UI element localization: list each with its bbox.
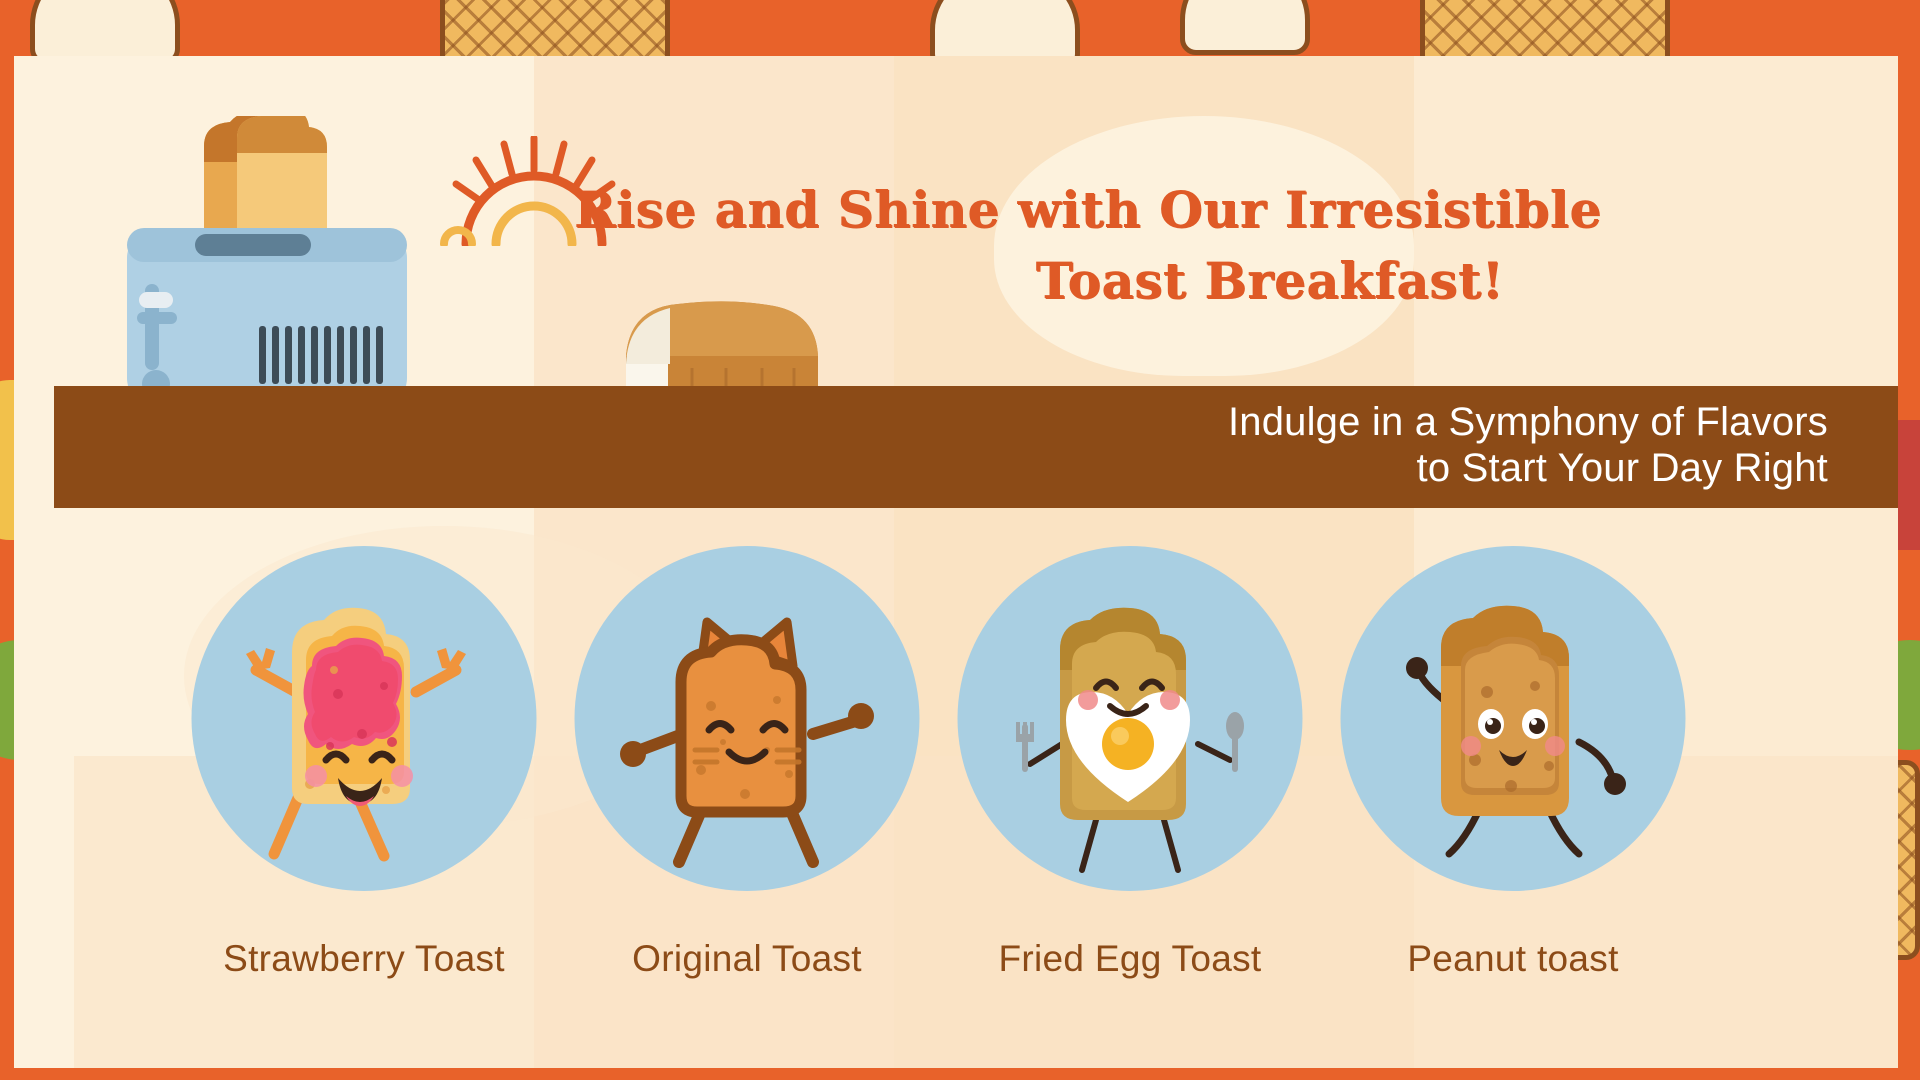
product-item-peanut-toast[interactable]: Peanut toast [1323, 546, 1703, 926]
original-toast-mascot [617, 574, 877, 879]
headline-line-2: Toast Breakfast! [574, 245, 1504, 316]
subtitle-line-1: Indulge in a Symphony of Flavors [928, 400, 1828, 446]
peanut-toast-mascot [1383, 574, 1643, 879]
bread-outline-motif [1180, 0, 1310, 55]
subtitle-line-2: to Start Your Day Right [928, 446, 1828, 492]
page-title: Rise and Shine with Our Irresistible Toa… [574, 174, 1504, 316]
fried-egg-toast-mascot [1000, 574, 1260, 879]
subtitle-text: Indulge in a Symphony of Flavors to Star… [928, 400, 1828, 491]
footer: +123-456-7890 123 Anywhere St., Any City… [0, 988, 1920, 1058]
product-label: Original Toast [557, 938, 937, 980]
poster-canvas: Rise and Shine with Our Irresistible Toa… [0, 0, 1920, 1080]
product-label: Peanut toast [1323, 938, 1703, 980]
product-list: Strawberry Toast [14, 546, 1898, 966]
strawberry-toast-mascot [234, 574, 494, 879]
product-label: Strawberry Toast [174, 938, 554, 980]
product-label: Fried Egg Toast [940, 938, 1320, 980]
product-item-original-toast[interactable]: Original Toast [557, 546, 937, 926]
headline-line-1: Rise and Shine with Our Irresistible [574, 174, 1504, 245]
product-item-fried-egg-toast[interactable]: Fried Egg Toast [940, 546, 1320, 926]
poster-card: Rise and Shine with Our Irresistible Toa… [14, 56, 1898, 1068]
product-item-strawberry-toast[interactable]: Strawberry Toast [174, 546, 554, 926]
